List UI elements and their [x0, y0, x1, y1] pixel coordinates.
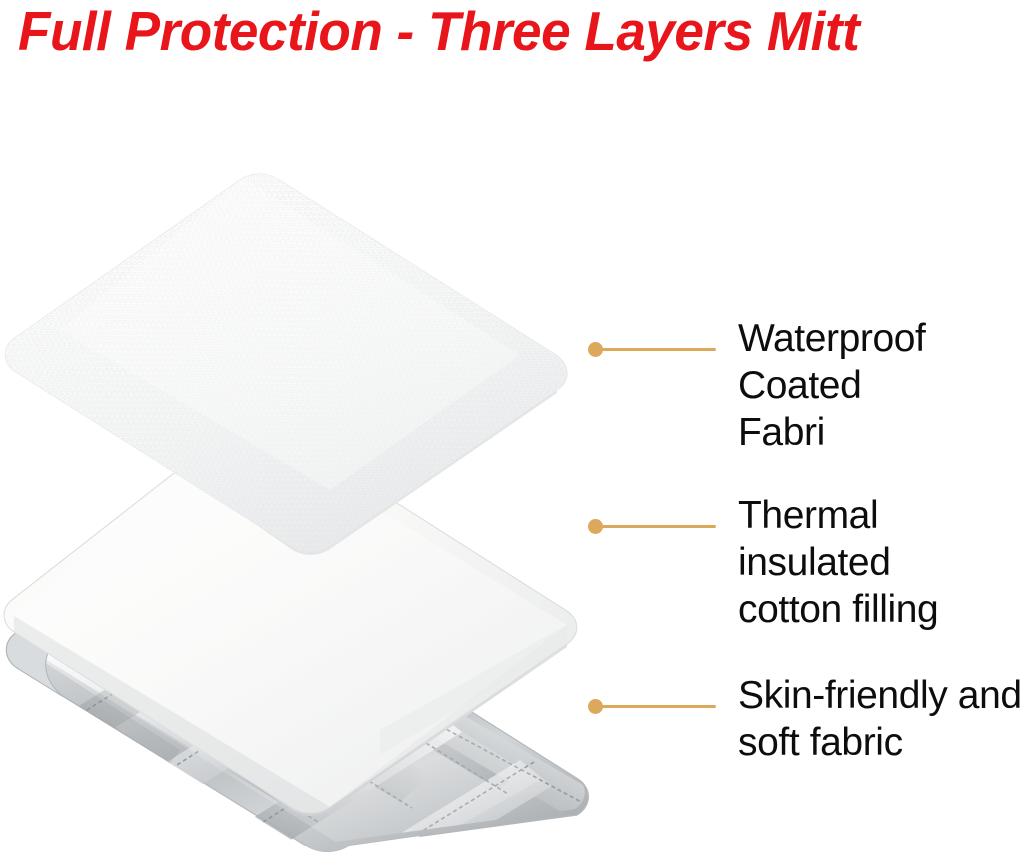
infographic-page: Full Protection - Three Layers Mitt [0, 0, 1024, 853]
page-title: Full Protection - Three Layers Mitt [18, 2, 973, 64]
callout-label: Skin-friendly and soft fabric [738, 672, 1024, 766]
callout-connector [588, 341, 716, 357]
callout-label-line2: soft fabric [738, 719, 1024, 766]
callout-leader-line [600, 705, 716, 708]
callout-leader-line [600, 525, 716, 528]
exploded-layers-artwork [0, 170, 620, 853]
callout-label-line1: Thermal insulated [738, 492, 1024, 586]
callout-label-line2: cotton filling [738, 586, 1024, 633]
callout-label-line1: Skin-friendly and [738, 672, 1024, 719]
callout-label-line1: Waterproof Coated [738, 315, 1024, 409]
callout-leader-line [600, 348, 716, 351]
callout-label-line2: Fabri [738, 409, 1024, 456]
callout-label: Waterproof Coated Fabri [738, 315, 1024, 456]
callout-label: Thermal insulated cotton filling [738, 492, 1024, 633]
callout-connector [588, 698, 716, 714]
callout-connector [588, 518, 716, 534]
